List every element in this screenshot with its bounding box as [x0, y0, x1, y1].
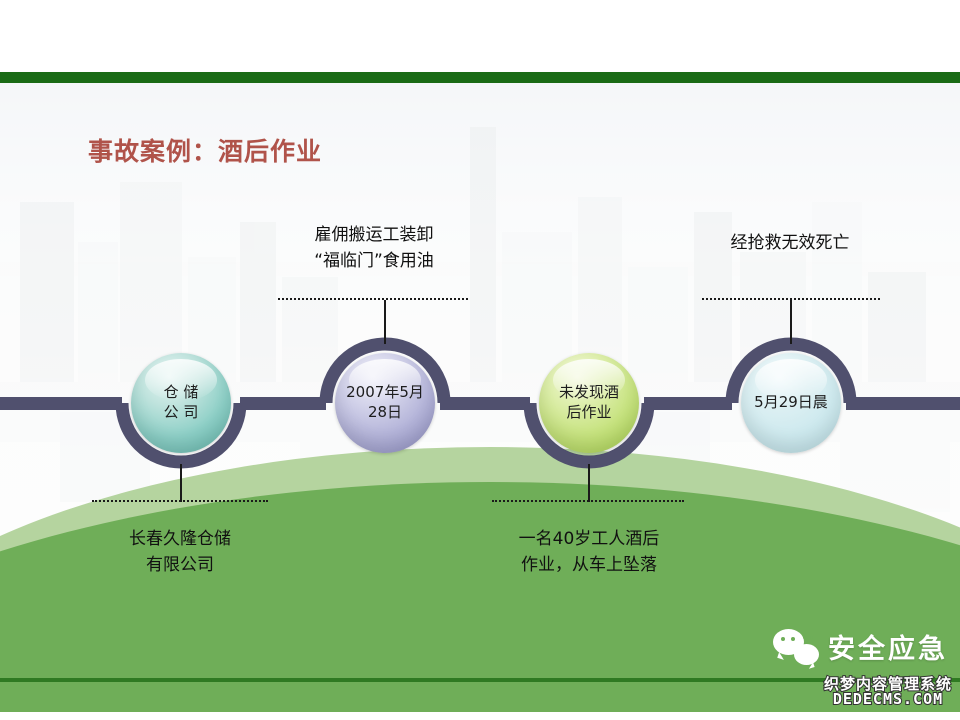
site-watermark: 织梦内容管理系统 DEDECMS.COM [824, 677, 952, 709]
timeline-node-3[interactable]: 未发现酒 后作业 [530, 344, 648, 462]
timeline-node-4-label: 5月29日晨 [748, 393, 834, 413]
leader-dotted-node-3 [492, 500, 684, 502]
callout-node-2: 雇佣搬运工装卸 “福临门”食用油 [264, 222, 484, 275]
top-white-margin [0, 0, 960, 82]
leader-line-node-1 [180, 464, 182, 502]
callout-node-1: 长春久隆仓储 有限公司 [64, 526, 296, 579]
leader-line-node-3 [588, 464, 590, 502]
leader-dotted-node-4 [702, 298, 880, 300]
timeline-node-1[interactable]: 仓 储 公 司 [122, 344, 240, 462]
leader-line-node-4 [790, 300, 792, 344]
wechat-icon [773, 629, 819, 665]
timeline-node-1-label: 仓 储 公 司 [158, 383, 205, 423]
timeline-node-2-label: 2007年5月 28日 [340, 383, 430, 423]
leader-dotted-node-2 [278, 298, 468, 300]
timeline-node-4[interactable]: 5月29日晨 [732, 344, 850, 462]
timeline-node-1-circle[interactable]: 仓 储 公 司 [131, 353, 231, 453]
green-header-bar [0, 72, 960, 83]
timeline-node-3-circle[interactable]: 未发现酒 后作业 [539, 353, 639, 453]
brand-logo: 安全应急 [773, 627, 948, 666]
timeline-node-3-label: 未发现酒 后作业 [553, 383, 625, 423]
leader-dotted-node-1 [92, 500, 268, 502]
callout-node-4: 经抢救无效死亡 [688, 230, 892, 256]
watermark-line-2: DEDECMS.COM [824, 692, 952, 708]
slide-canvas: 事故案例：酒后作业 [0, 0, 960, 720]
callout-node-3: 一名40岁工人酒后 作业，从车上坠落 [466, 526, 712, 579]
leader-line-node-2 [384, 300, 386, 344]
slide-content-area: 事故案例：酒后作业 [0, 82, 960, 712]
brand-name: 安全应急 [828, 627, 948, 666]
timeline-node-2-circle[interactable]: 2007年5月 28日 [335, 353, 435, 453]
bottom-white-margin [0, 712, 960, 720]
timeline-node-2[interactable]: 2007年5月 28日 [326, 344, 444, 462]
timeline-node-4-circle[interactable]: 5月29日晨 [741, 353, 841, 453]
page-title: 事故案例：酒后作业 [88, 132, 322, 168]
